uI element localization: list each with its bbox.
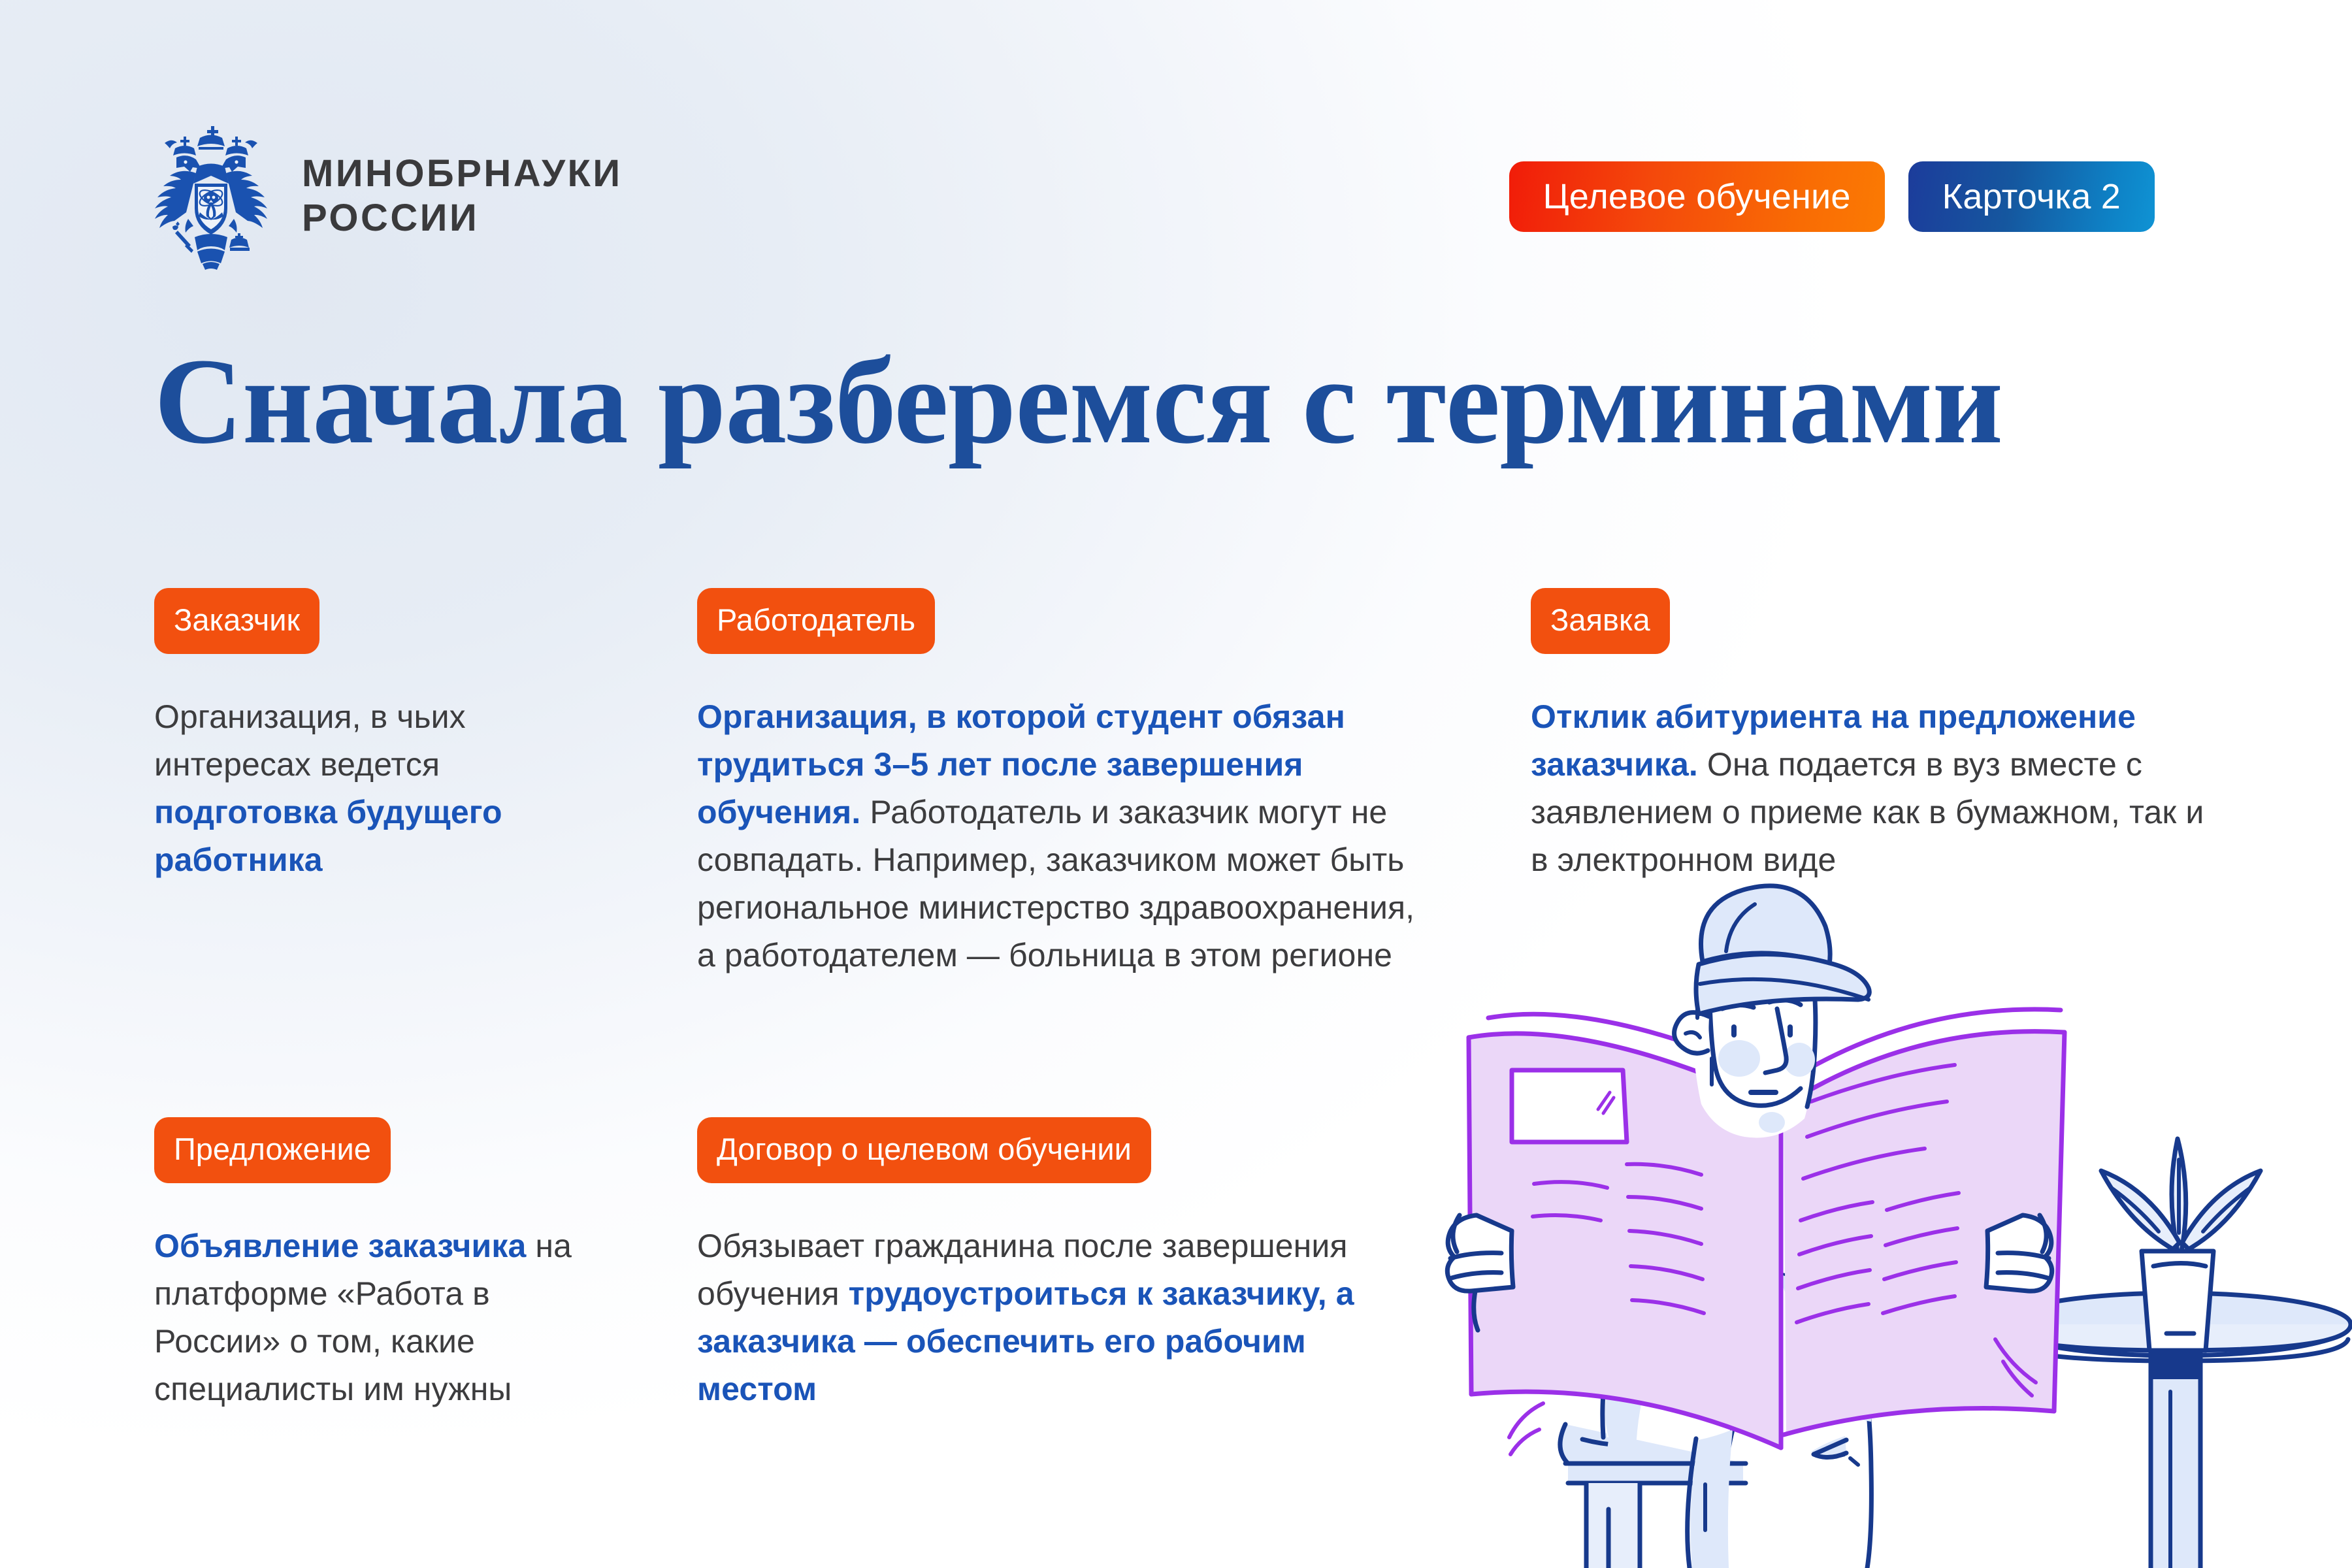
header-badges: Целевое обучение Карточка 2 [1509,161,2155,232]
term-zayavka: Заявка Отклик абитуриента на предложение… [1531,588,2207,884]
term-chip-rabotodatel: Работодатель [697,588,935,654]
term-chip-dogovor: Договор о целевом обучении [697,1117,1151,1183]
term-text-bold: Объявление заказчика [154,1228,526,1264]
infographic-slide: МИНОБРНАУКИ РОССИИ Целевое обучение Карт… [0,0,2352,1568]
russian-coat-of-arms-emblem [149,121,273,271]
header: МИНОБРНАУКИ РОССИИ Целевое обучение Карт… [0,0,2352,307]
term-text-plain: Организация, в чьих интересах ведется [154,698,466,783]
term-body-dogovor: Обязывает гражданина после завершения об… [697,1222,1416,1413]
term-body-zayavka: Отклик абитуриента на предложение заказч… [1531,693,2207,884]
page-title: Сначала разберемся с терминами [154,336,2245,465]
ministry-logo: МИНОБРНАУКИ РОССИИ [149,121,623,271]
term-body-zakazchik: Организация, в чьих интересах ведется по… [154,693,572,884]
term-body-rabotodatel: Организация, в которой студент обязан тр… [697,693,1416,979]
term-text-bold: подготовка будущего работника [154,794,502,878]
badge-card-number[interactable]: Карточка 2 [1908,161,2155,232]
term-dogovor: Договор о целевом обучении Обязывает гра… [697,1117,1416,1413]
term-chip-zakazchik: Заказчик [154,588,319,654]
term-zakazchik: Заказчик Организация, в чьих интересах в… [154,588,572,884]
term-predlozhenie: Предложение Объявление заказчика на плат… [154,1117,572,1413]
term-body-predlozhenie: Объявление заказчика на платформе «Работ… [154,1222,572,1413]
term-chip-predlozhenie: Предложение [154,1117,391,1183]
term-rabotodatel: Работодатель Организация, в которой студ… [697,588,1416,979]
badge-topic[interactable]: Целевое обучение [1509,161,1885,232]
terms-grid: Заказчик Организация, в чьих интересах в… [0,588,2352,1568]
ministry-logo-text: МИНОБРНАУКИ РОССИИ [302,152,623,241]
term-chip-zayavka: Заявка [1531,588,1670,654]
